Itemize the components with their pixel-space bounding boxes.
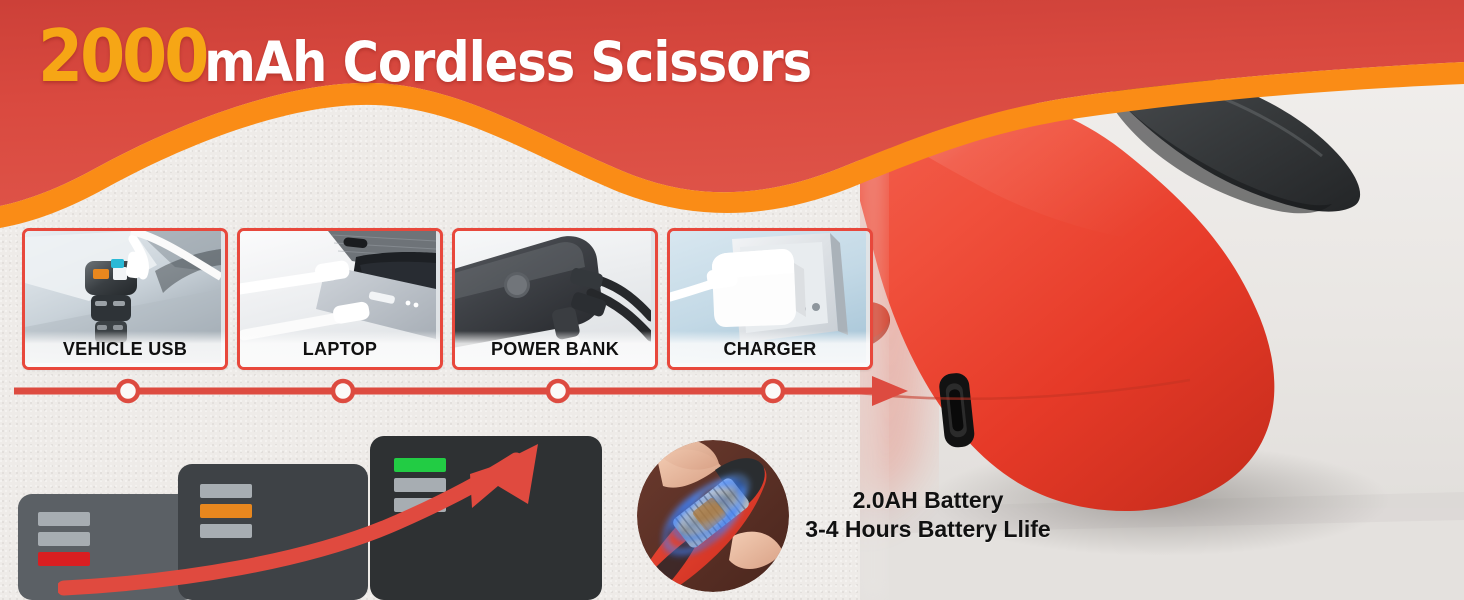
timeline-marker: [118, 381, 138, 401]
source-card-charger[interactable]: CHARGER: [667, 228, 873, 370]
battery-claim-line1: 2.0AH Battery: [792, 486, 1064, 515]
charging-timeline: [14, 372, 914, 410]
title-capacity: 2000: [38, 14, 206, 98]
product-infographic: 2000mAh Cordless Scissors: [0, 0, 1464, 600]
source-card-label: POWER BANK: [455, 331, 655, 367]
growth-arrow-icon: [58, 442, 588, 600]
timeline-marker: [333, 381, 353, 401]
title-text: mAh Cordless Scissors: [204, 30, 811, 94]
timeline-marker: [548, 381, 568, 401]
timeline-marker: [763, 381, 783, 401]
source-card-label: CHARGER: [670, 331, 870, 367]
page-title: 2000mAh Cordless Scissors: [38, 14, 811, 98]
battery-level-group: [18, 432, 618, 600]
source-card-label: LAPTOP: [240, 331, 440, 367]
battery-claim: 2.0AH Battery 3-4 Hours Battery Llife: [792, 486, 1064, 544]
battery-claim-line2: 3-4 Hours Battery Llife: [792, 515, 1064, 544]
source-card-laptop[interactable]: LAPTOP: [237, 228, 443, 370]
source-card-power-bank[interactable]: POWER BANK: [452, 228, 658, 370]
source-card-label: VEHICLE USB: [25, 331, 225, 367]
charging-sources: VEHICLE USB: [22, 228, 868, 364]
source-card-vehicle-usb[interactable]: VEHICLE USB: [22, 228, 228, 370]
hand-holding-scissors-inset: [637, 440, 789, 592]
